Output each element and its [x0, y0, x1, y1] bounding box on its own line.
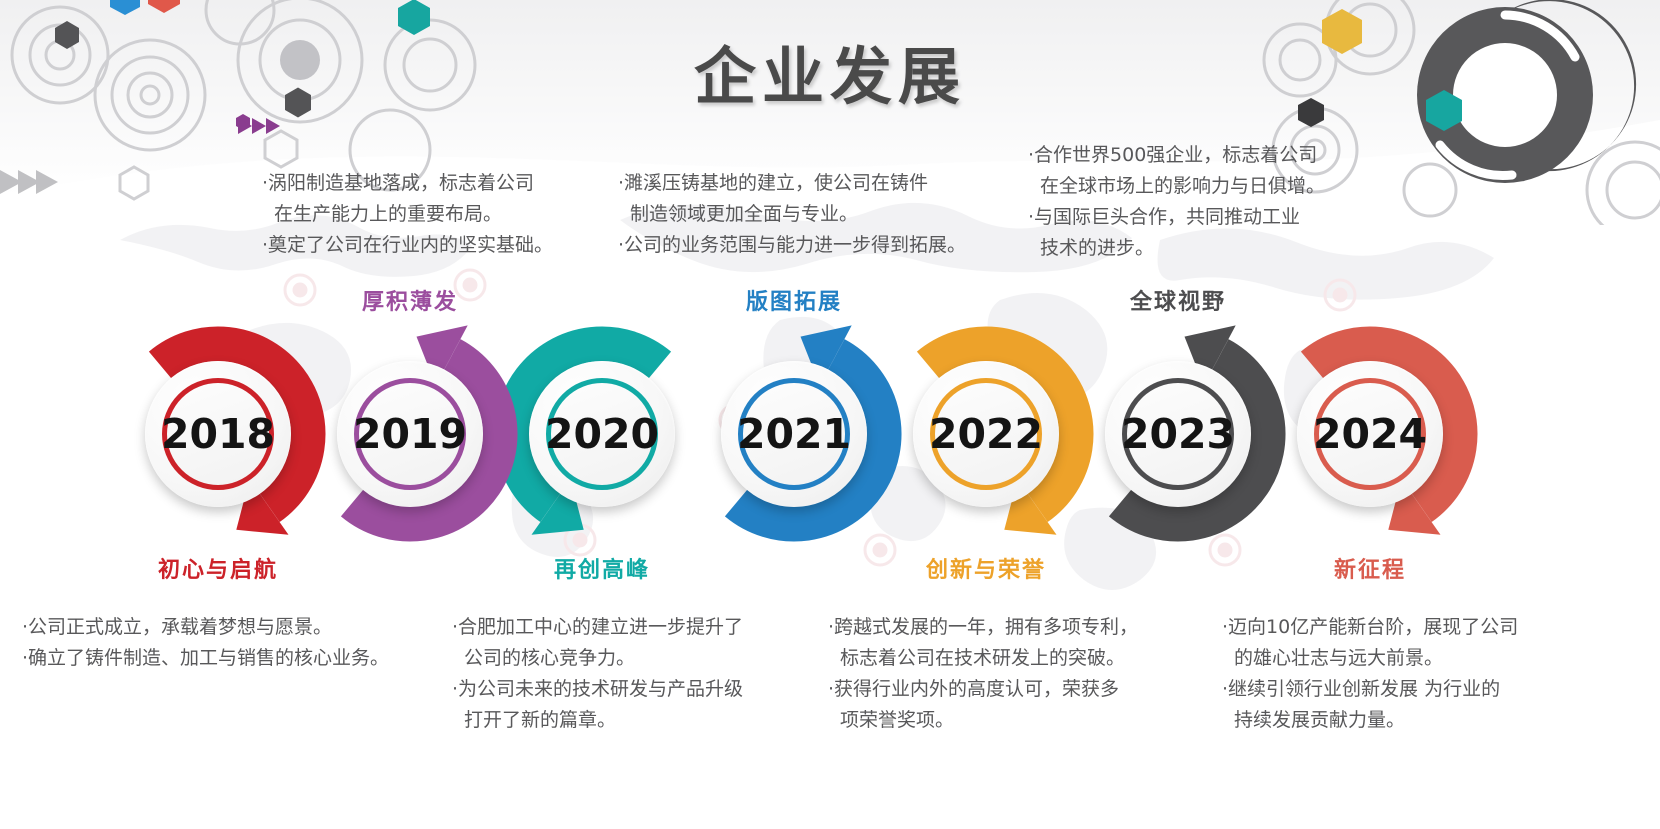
description-item: ·获得行业内外的高度认可，荣获多 项荣誉奖项。: [828, 674, 1188, 736]
description-item: ·为公司未来的技术研发与产品升级 打开了新的篇章。: [452, 674, 792, 736]
description-item: ·与国际巨头合作，共同推动工业 技术的进步。: [1028, 202, 1358, 264]
description-2022: ·跨越式发展的一年，拥有多项专利， 标志着公司在技术研发上的突破。·获得行业内外…: [828, 612, 1188, 736]
timeline-container: 2018初心与启航2019厚积薄发2020再创高峰2021版图拓展2022创新与…: [0, 0, 1660, 829]
caption-2023: 全球视野: [1048, 284, 1308, 316]
description-item: ·公司的业务范围与能力进一步得到拓展。: [618, 230, 988, 261]
description-item: ·涡阳制造基地落成，标志着公司 在生产能力上的重要布局。: [262, 168, 592, 230]
description-2024: ·迈向10亿产能新台阶，展现了公司 的雄心壮志与远大前景。·继续引领行业创新发展…: [1222, 612, 1552, 736]
year-label-2022: 2022: [913, 361, 1059, 507]
year-label-2020: 2020: [529, 361, 675, 507]
description-2023: ·合作世界500强企业，标志着公司 在全球市场上的影响力与日俱增。·与国际巨头合…: [1028, 140, 1358, 264]
caption-2019: 厚积薄发: [280, 284, 540, 316]
description-item: ·迈向10亿产能新台阶，展现了公司 的雄心壮志与远大前景。: [1222, 612, 1552, 674]
timeline-node-2018[interactable]: 2018: [103, 319, 333, 549]
year-label-2018: 2018: [145, 361, 291, 507]
year-label-2024: 2024: [1297, 361, 1443, 507]
caption-2024: 新征程: [1240, 552, 1500, 584]
description-item: ·确立了铸件制造、加工与销售的核心业务。: [22, 643, 442, 674]
caption-2020: 再创高峰: [472, 552, 732, 584]
description-item: ·继续引领行业创新发展 为行业的 持续发展贡献力量。: [1222, 674, 1552, 736]
description-item: ·公司正式成立，承载着梦想与愿景。: [22, 612, 442, 643]
year-label-2019: 2019: [337, 361, 483, 507]
caption-2021: 版图拓展: [664, 284, 924, 316]
year-label-2023: 2023: [1105, 361, 1251, 507]
description-item: ·濉溪压铸基地的建立，使公司在铸件 制造领域更加全面与专业。: [618, 168, 988, 230]
description-item: ·合作世界500强企业，标志着公司 在全球市场上的影响力与日俱增。: [1028, 140, 1358, 202]
page-title: 企业发展: [0, 26, 1660, 116]
description-2019: ·涡阳制造基地落成，标志着公司 在生产能力上的重要布局。·奠定了公司在行业内的坚…: [262, 168, 592, 261]
description-2021: ·濉溪压铸基地的建立，使公司在铸件 制造领域更加全面与专业。·公司的业务范围与能…: [618, 168, 988, 261]
caption-2022: 创新与荣誉: [856, 552, 1116, 584]
year-label-2021: 2021: [721, 361, 867, 507]
description-2018: ·公司正式成立，承载着梦想与愿景。·确立了铸件制造、加工与销售的核心业务。: [22, 612, 442, 674]
description-item: ·合肥加工中心的建立进一步提升了 公司的核心竞争力。: [452, 612, 792, 674]
description-2020: ·合肥加工中心的建立进一步提升了 公司的核心竞争力。·为公司未来的技术研发与产品…: [452, 612, 792, 736]
description-item: ·奠定了公司在行业内的坚实基础。: [262, 230, 592, 261]
description-item: ·跨越式发展的一年，拥有多项专利， 标志着公司在技术研发上的突破。: [828, 612, 1188, 674]
caption-2018: 初心与启航: [88, 552, 348, 584]
